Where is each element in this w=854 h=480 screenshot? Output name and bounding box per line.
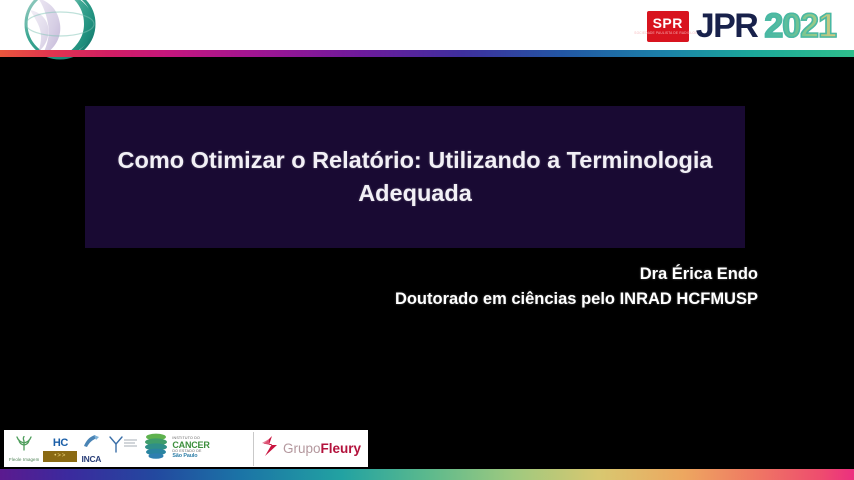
sponsor-logo-strip: Fleole Imagem HC •>> INCA bbox=[4, 430, 368, 467]
inca-logo: INCA bbox=[81, 430, 101, 467]
page-title: Como Otimizar o Relatório: Utilizando a … bbox=[111, 144, 719, 211]
y-mark-icon bbox=[105, 435, 139, 462]
grupo-fleury-text: GrupoFleury bbox=[283, 441, 361, 456]
fleury-grupo-label: Grupo bbox=[283, 441, 321, 456]
spr-badge: SPR SOCIEDADE PAULISTA DE RADIOLOGIA bbox=[647, 11, 689, 42]
spr-badge-sub: SOCIEDADE PAULISTA DE RADIOLOGIA bbox=[634, 32, 701, 35]
spr-badge-main: SPR bbox=[653, 16, 683, 30]
ribbon-icon bbox=[81, 434, 101, 453]
fleole-imagem-logo: Fleole Imagem bbox=[9, 430, 39, 467]
fleole-imagem-label: Fleole Imagem bbox=[9, 457, 39, 462]
fleury-name-label: Fleury bbox=[320, 441, 361, 456]
jpr-wordmark: JPR bbox=[696, 9, 758, 43]
presenter-affiliation: Doutorado em ciências pelo INRAD HCFMUSP bbox=[395, 287, 758, 312]
cancer-line-4: São Paulo bbox=[172, 454, 209, 460]
sponsor-logo-group: Fleole Imagem HC •>> INCA bbox=[4, 430, 253, 467]
y-institute-logo bbox=[105, 430, 139, 467]
cancer-institute-text: INSTITUTO DO CANCER DO ESTADO DE São Pau… bbox=[171, 437, 209, 460]
header-gradient-divider bbox=[0, 50, 854, 57]
jpr-2021-logo: SPR SOCIEDADE PAULISTA DE RADIOLOGIA JPR… bbox=[647, 8, 836, 44]
slide-header: SPR SOCIEDADE PAULISTA DE RADIOLOGIA JPR… bbox=[0, 0, 854, 50]
hc-gold-bar: •>> bbox=[43, 451, 77, 462]
title-panel: Como Otimizar o Relatório: Utilizando a … bbox=[85, 106, 745, 248]
hc-label: HC bbox=[53, 437, 68, 449]
footer-gradient-bar bbox=[0, 469, 854, 480]
cancer-institute-logo: INSTITUTO DO CANCER DO ESTADO DE São Pau… bbox=[143, 430, 209, 467]
presentation-slide: SPR SOCIEDADE PAULISTA DE RADIOLOGIA JPR… bbox=[0, 0, 854, 480]
plant-icon bbox=[13, 436, 35, 456]
fleury-mark-icon bbox=[260, 435, 280, 462]
hc-logo: HC •>> bbox=[43, 430, 77, 467]
hc-sublabel: •>> bbox=[54, 453, 66, 459]
jpr-year: 2021 bbox=[764, 9, 836, 43]
inca-label: INCA bbox=[82, 454, 102, 464]
presenter-block: Dra Érica Endo Doutorado em ciências pel… bbox=[395, 262, 758, 312]
presenter-name: Dra Érica Endo bbox=[395, 262, 758, 287]
layers-icon bbox=[143, 432, 169, 465]
grupo-fleury-logo: GrupoFleury bbox=[254, 435, 368, 462]
